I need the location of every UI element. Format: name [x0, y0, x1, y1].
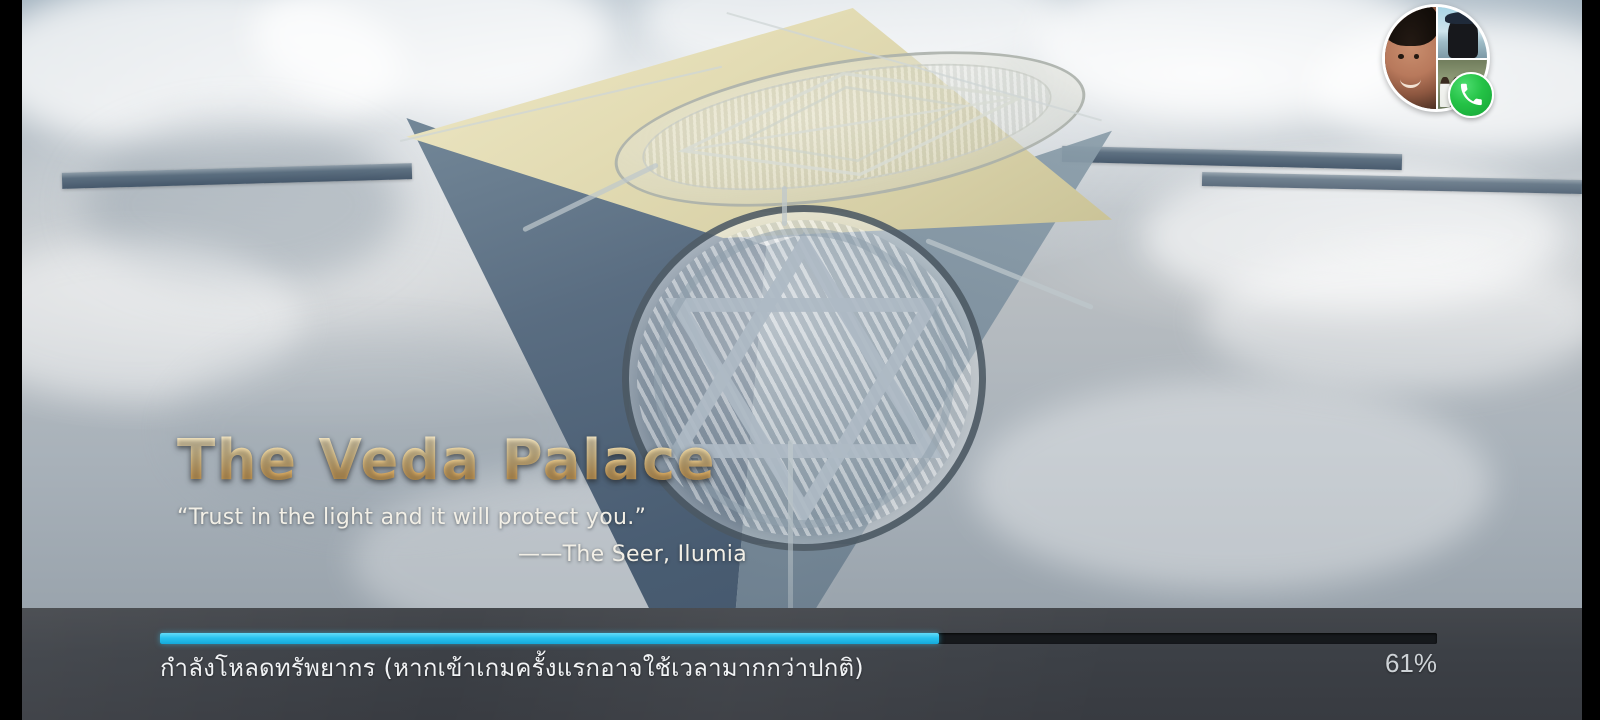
loading-panel: กำลังโหลดทรัพยากร (หากเข้าเกมครั้งแรกอาจ… [22, 608, 1582, 720]
avatar-divider [1436, 58, 1487, 60]
avatar-hair [1385, 7, 1436, 46]
floating-call-widget[interactable] [1382, 4, 1494, 118]
avatar-smile [1400, 70, 1420, 87]
screen-root: The Veda Palace “Trust in the light and … [0, 0, 1600, 720]
progress-bar-track [160, 633, 1437, 644]
avatar-eye-right [1414, 54, 1420, 59]
splash-title: The Veda Palace [177, 432, 817, 491]
loading-status-text: กำลังโหลดทรัพยากร (หากเข้าเกมครั้งแรกอาจ… [160, 648, 1260, 687]
call-button[interactable] [1448, 72, 1494, 118]
splash-artwork: The Veda Palace “Trust in the light and … [22, 0, 1582, 608]
splash-quote: “Trust in the light and it will protect … [177, 505, 817, 530]
avatar-eye-left [1398, 54, 1404, 59]
avatar-segment-left [1385, 7, 1436, 109]
palace-wing-left [62, 163, 412, 189]
palace-wing-right [1062, 146, 1402, 170]
game-viewport: The Veda Palace “Trust in the light and … [22, 0, 1582, 720]
splash-attribution: ——The Seer, Ilumia [177, 542, 817, 567]
palace-strut [782, 186, 787, 226]
phone-icon [1459, 83, 1483, 107]
palace-wing-far-right [1202, 172, 1582, 194]
avatar-segment-top-right [1436, 7, 1487, 58]
loading-percent-label: 61% [1312, 648, 1437, 679]
progress-bar-fill [160, 633, 939, 644]
splash-caption: The Veda Palace “Trust in the light and … [177, 432, 817, 567]
avatar-bucket-hat [1445, 12, 1480, 24]
